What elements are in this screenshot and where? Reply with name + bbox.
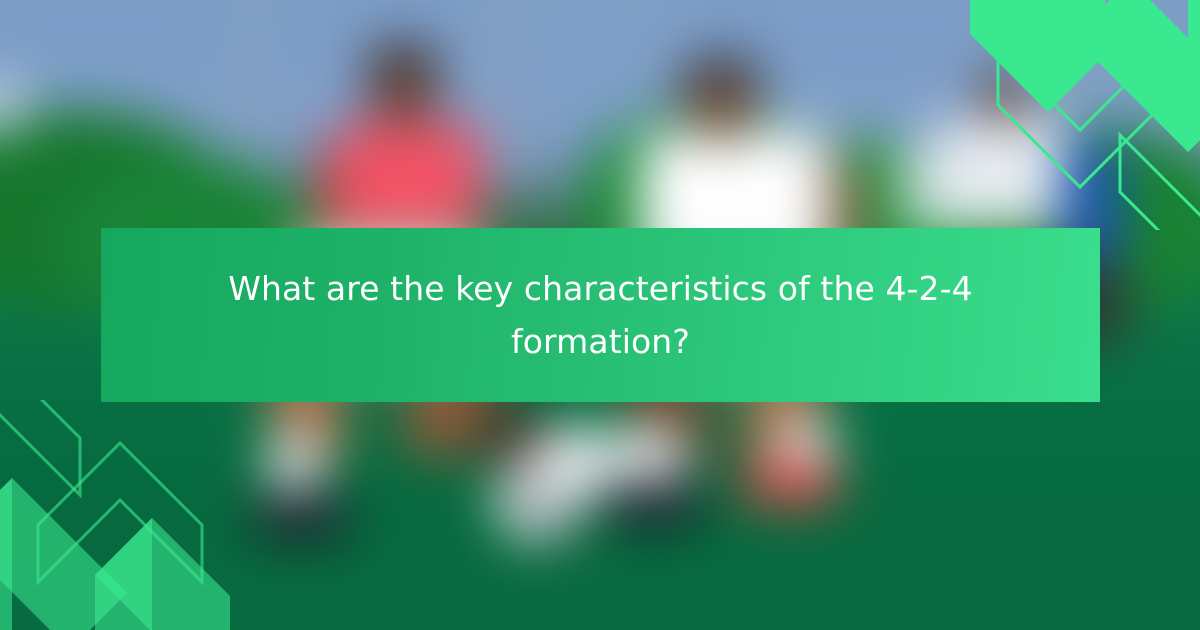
soccer-ball-panel [520, 480, 550, 506]
soccer-ball-panel [544, 512, 570, 534]
question-card: What are the key characteristics of the … [0, 0, 1200, 630]
player-two-boot [740, 460, 840, 506]
background-pole [480, 0, 526, 200]
player-two-head [688, 70, 754, 140]
player-one-face [380, 76, 428, 128]
bystander-torso [940, 118, 1070, 228]
player-one-boot [252, 492, 348, 540]
bystander-head [980, 70, 1028, 124]
question-text: What are the key characteristics of the … [221, 262, 981, 369]
player-one-jersey-highlight [344, 136, 470, 226]
background-haze [540, 0, 690, 60]
question-banner: What are the key characteristics of the … [101, 228, 1100, 402]
player-two-boot [600, 480, 704, 526]
